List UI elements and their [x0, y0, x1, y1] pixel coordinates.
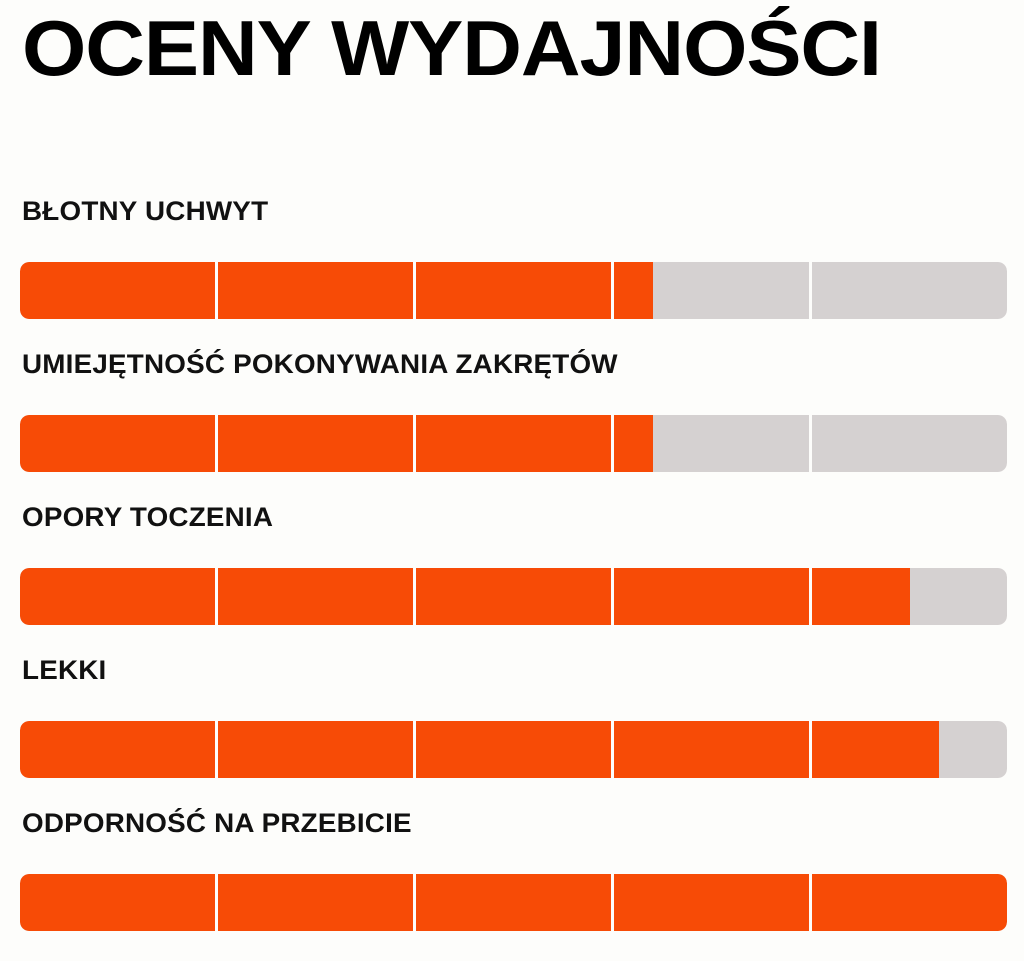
meter-segment — [20, 568, 215, 625]
meter-segment-fill — [416, 415, 611, 472]
meter-segment — [218, 568, 413, 625]
meter-segment-fill — [812, 874, 1007, 931]
rating-label-rolling-resistance: OPORY TOCZENIA — [22, 502, 273, 532]
rating-label-cornering: UMIEJĘTNOŚĆ POKONYWANIA ZAKRĘTÓW — [22, 349, 618, 379]
page-title: OCENY WYDAJNOŚCI — [22, 6, 1024, 90]
meter-segment — [614, 262, 809, 319]
meter-segment-fill — [416, 874, 611, 931]
meter-segment-fill — [614, 721, 809, 778]
meter-segment-fill — [218, 262, 413, 319]
meter-segment-fill — [20, 721, 215, 778]
meter-segment-fill — [20, 262, 215, 319]
meter-segment-fill — [218, 568, 413, 625]
rating-meter-rolling-resistance — [20, 568, 1007, 625]
meter-segment-fill — [812, 568, 910, 625]
meter-segment — [614, 415, 809, 472]
meter-segment-fill — [20, 874, 215, 931]
meter-segment — [416, 568, 611, 625]
meter-segment — [416, 415, 611, 472]
meter-segment — [20, 874, 215, 931]
meter-segment — [812, 568, 1007, 625]
meter-segment — [416, 721, 611, 778]
meter-segment — [614, 568, 809, 625]
meter-segment-fill — [218, 874, 413, 931]
rating-meter-cornering — [20, 415, 1007, 472]
meter-segment — [812, 874, 1007, 931]
rating-row: BŁOTNY UCHWYT — [0, 196, 1024, 349]
meter-segment-fill — [614, 874, 809, 931]
meter-segment — [20, 415, 215, 472]
meter-segment-fill — [20, 568, 215, 625]
meter-segment — [812, 721, 1007, 778]
rating-meter-light — [20, 721, 1007, 778]
meter-segment — [812, 415, 1007, 472]
meter-segment — [20, 721, 215, 778]
meter-segment-fill — [218, 721, 413, 778]
meter-segment — [218, 874, 413, 931]
rating-row: LEKKI — [0, 655, 1024, 808]
meter-segment-fill — [614, 415, 653, 472]
meter-segment — [812, 262, 1007, 319]
rating-label-mud-grip: BŁOTNY UCHWYT — [22, 196, 268, 226]
meter-segment-fill — [416, 568, 611, 625]
meter-segment-fill — [812, 721, 939, 778]
meter-segment — [416, 874, 611, 931]
meter-segment — [416, 262, 611, 319]
meter-segment-fill — [218, 415, 413, 472]
rating-row: UMIEJĘTNOŚĆ POKONYWANIA ZAKRĘTÓW — [0, 349, 1024, 502]
meter-segment-fill — [416, 262, 611, 319]
meter-segment — [218, 262, 413, 319]
meter-segment-fill — [614, 262, 653, 319]
ratings-list: BŁOTNY UCHWYT UMIEJĘTNOŚĆ POKONYWANIA ZA… — [0, 196, 1024, 961]
meter-segment — [614, 874, 809, 931]
meter-segment-fill — [614, 568, 809, 625]
performance-ratings-infographic: OCENY WYDAJNOŚCI BŁOTNY UCHWYT UMIEJĘTNO… — [0, 0, 1024, 945]
meter-segment-fill — [416, 721, 611, 778]
rating-label-light: LEKKI — [22, 655, 106, 685]
meter-segment-fill — [20, 415, 215, 472]
meter-segment — [614, 721, 809, 778]
rating-meter-puncture-resistance — [20, 874, 1007, 931]
rating-row: OPORY TOCZENIA — [0, 502, 1024, 655]
meter-segment — [218, 721, 413, 778]
meter-segment — [20, 262, 215, 319]
meter-segment — [218, 415, 413, 472]
rating-meter-mud-grip — [20, 262, 1007, 319]
rating-row: ODPORNOŚĆ NA PRZEBICIE — [0, 808, 1024, 961]
rating-label-puncture-resistance: ODPORNOŚĆ NA PRZEBICIE — [22, 808, 412, 838]
